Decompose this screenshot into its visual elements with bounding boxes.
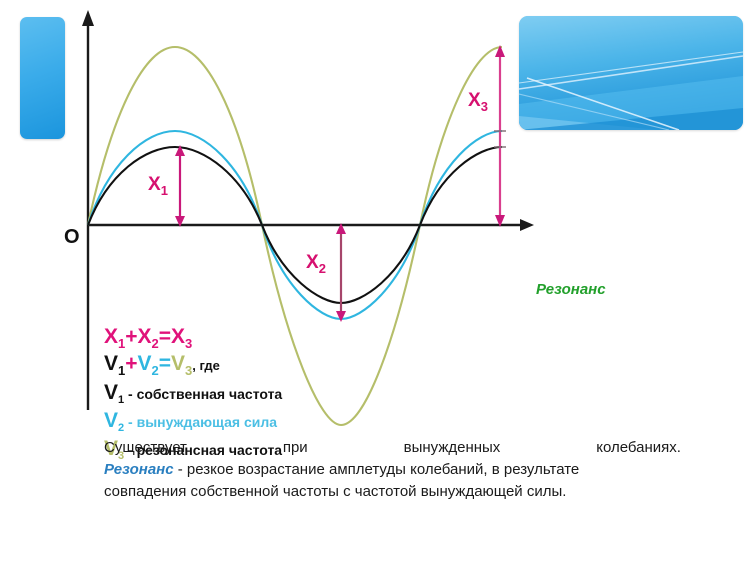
resonance-chart-tag: Резонанс [536,281,606,298]
legend-eq-1: = [159,325,171,348]
amplitude-arrow-x2 [336,223,346,322]
axis-origin-label: O [64,226,80,249]
slide-canvas: O X1 X2 X3 Резонанс X1+X2=X3 V1+V2=V3, г… [0,0,750,562]
legend-v3: V [171,352,185,375]
definition-line-3: совпадения собственной частоты с частото… [104,481,681,503]
legend-formula-amplitudes: X1+X2=X3 [104,326,282,350]
legend-plus-2: + [125,352,137,375]
definition-line-2: Резонанс - резкое возрастание амплетуды … [104,459,681,481]
definition-keyword: Резонанс [104,461,174,478]
definition-line-2-rest: - резкое возрастание амплетуды колебаний… [174,461,580,478]
legend-x3: X [171,325,185,348]
legend-x3-sub: 3 [185,336,192,351]
legend-v2: V [138,352,152,375]
amplitude-label-x3-symbol: X [468,90,481,111]
legend-item-v2-symbol: V [104,409,118,432]
legend-item-v1-text: - собственная частота [128,386,282,402]
definition-line-1: Существует при вынужденных колебаниях. [104,437,681,459]
amplitude-label-x1-symbol: X [148,174,161,195]
legend-item-driving-force: V2 - вынуждающая сила [104,410,282,434]
legend-x1: X [104,325,118,348]
legend-formula-frequencies: V1+V2=V3, где [104,353,282,377]
amplitude-label-x2-subscript: 2 [319,261,326,276]
legend-x2: X [138,325,152,348]
definition-word-3: вынужденных [404,437,501,459]
definition-word-1: Существует [104,437,187,459]
definition-word-2: при [283,437,308,459]
amplitude-label-x3-subscript: 3 [481,99,488,114]
amplitude-label-x3: X3 [468,90,488,114]
amplitude-label-x2-symbol: X [306,252,319,273]
legend-item-v1-subscript: 1 [118,394,124,406]
legend-v1: V [104,352,118,375]
legend-plus-1: + [125,325,137,348]
amplitude-label-x2: X2 [306,252,326,276]
legend-item-v2-text: - вынуждающая сила [128,414,277,430]
amplitude-label-x1: X1 [148,174,168,198]
legend-item-natural-frequency: V1 - собственная частота [104,382,282,406]
definition-word-4: колебаниях. [596,437,681,459]
legend-x2-sub: 2 [152,336,159,351]
legend-eq-2: = [159,352,171,375]
legend-item-v2-subscript: 2 [118,422,124,434]
legend-where-text: , где [192,358,220,373]
amplitude-arrow-x3 [494,45,506,227]
legend-item-v1-symbol: V [104,381,118,404]
legend-v2-sub: 2 [152,363,159,378]
amplitude-arrow-x1 [175,145,185,227]
amplitude-label-x1-subscript: 1 [161,183,168,198]
definition-paragraph: Существует при вынужденных колебаниях. Р… [104,437,681,502]
